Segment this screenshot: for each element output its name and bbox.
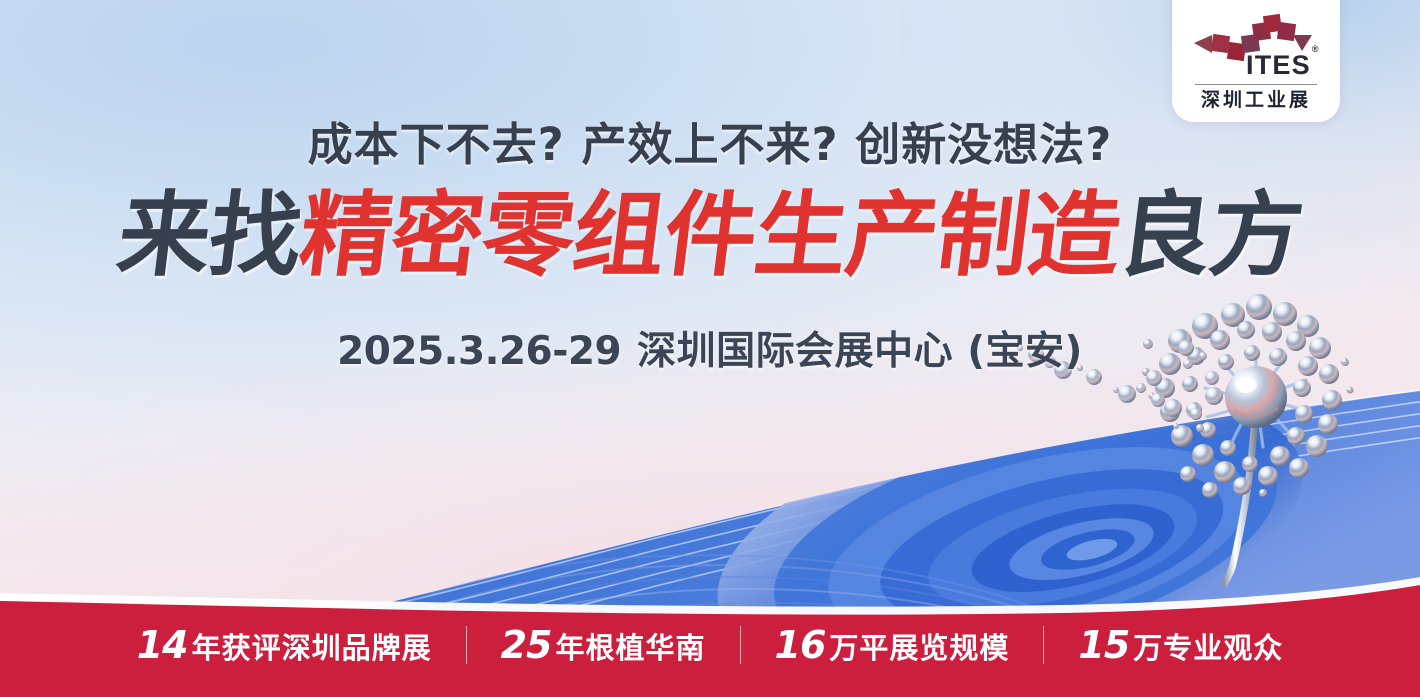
event-venue: 深圳国际会展中心 (宝安) bbox=[637, 329, 1083, 374]
stat-item-1: 25 年根植华南 bbox=[467, 623, 740, 667]
ites-wordmark-row: ITES® bbox=[1190, 52, 1322, 79]
stat-label: 万专业观众 bbox=[1133, 625, 1283, 667]
ites-brand-text: ITES bbox=[1246, 50, 1311, 80]
logo-divider bbox=[1195, 84, 1317, 85]
stat-label: 年获评深圳品牌展 bbox=[192, 625, 432, 667]
logo-subtitle: 深圳工业展 bbox=[1201, 91, 1311, 110]
stat-number: 16 bbox=[775, 623, 826, 667]
title-segment-red: 精密零组件生产制造 bbox=[295, 188, 1126, 285]
promo-banner: 成本下不去? 产效上不来? 创新没想法? 来找精密零组件生产制造良方 2025.… bbox=[0, 0, 1420, 697]
event-date: 2025.3.26-29 bbox=[337, 329, 621, 374]
stat-number: 15 bbox=[1078, 623, 1129, 667]
stat-item-2: 16 万平展览规模 bbox=[741, 623, 1044, 667]
stat-label: 年根植华南 bbox=[555, 625, 705, 667]
page-title: 来找精密零组件生产制造良方 bbox=[0, 188, 1420, 285]
ites-wordmark: ITES® bbox=[1246, 52, 1320, 79]
stats-row: 14 年获评深圳品牌展 25 年根植华南 16 万平展览规模 15 万专业观众 bbox=[0, 593, 1420, 697]
title-segment-dark-1: 来找 bbox=[113, 188, 307, 285]
stat-item-3: 15 万专业观众 bbox=[1044, 623, 1317, 667]
stat-label: 万平展览规模 bbox=[829, 625, 1009, 667]
stat-item-0: 14 年获评深圳品牌展 bbox=[103, 623, 466, 667]
title-segment-dark-2: 良方 bbox=[1114, 188, 1308, 285]
ites-logo-panel[interactable]: ITES® 深圳工业展 bbox=[1172, 0, 1340, 122]
event-date-venue: 2025.3.26-29深圳国际会展中心 (宝安) bbox=[0, 320, 1420, 376]
stat-number: 14 bbox=[137, 623, 188, 667]
stat-number: 25 bbox=[501, 623, 552, 667]
registered-mark: ® bbox=[1312, 44, 1320, 54]
